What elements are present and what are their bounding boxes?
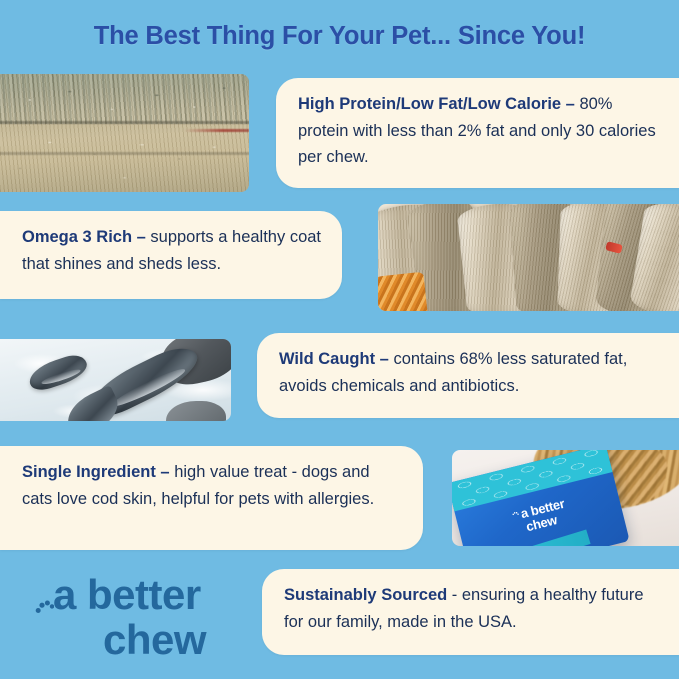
- page-title: The Best Thing For Your Pet... Since You…: [0, 22, 679, 51]
- benefit-card-single-ingredient: Single Ingredient – high value treat - d…: [0, 446, 423, 550]
- pouch-scene: a better chew COD SKIN: [452, 450, 679, 546]
- brand-logo-line-1-row: a better: [34, 574, 249, 615]
- rapids-scene: [0, 339, 231, 421]
- brand-logo: a better chew: [34, 574, 249, 660]
- photo-product-pouch: a better chew COD SKIN: [452, 450, 679, 546]
- benefit-lead-wild-caught: Wild Caught –: [279, 350, 389, 368]
- benefit-lead-sustainably-sourced: Sustainably Sourced: [284, 586, 447, 604]
- photo-wild-salmon-leaping: [0, 339, 231, 421]
- paw-icon: [34, 589, 54, 615]
- product-pouch: a better chew COD SKIN: [452, 450, 630, 546]
- cod-skin-rib: [0, 121, 249, 124]
- benefit-lead-omega-3: Omega 3 Rich –: [22, 228, 146, 246]
- benefit-card-omega-3: Omega 3 Rich – supports a healthy coat t…: [0, 211, 342, 299]
- cod-skin-red-streak: [184, 129, 249, 132]
- benefit-card-sustainably-sourced: Sustainably Sourced - ensuring a healthy…: [262, 569, 679, 655]
- brand-logo-line-1: a better: [53, 574, 201, 615]
- cod-skin-texture: [0, 74, 249, 192]
- paw-icon: [510, 507, 518, 515]
- photo-rolled-cod-skins: [378, 204, 679, 311]
- benefit-card-high-protein: High Protein/Low Fat/Low Calorie – 80% p…: [276, 78, 679, 188]
- cod-skin-rib: [0, 152, 249, 155]
- benefit-card-wild-caught: Wild Caught – contains 68% less saturate…: [257, 333, 679, 418]
- brand-logo-line-2: chew: [34, 619, 249, 660]
- cod-skin-speckles: [0, 74, 249, 192]
- benefit-lead-single-ingredient: Single Ingredient –: [22, 463, 170, 481]
- woven-basket: [378, 271, 429, 311]
- pouch-flavor-label: COD SKIN: [499, 544, 549, 546]
- rolled-skins-scene: [378, 204, 679, 311]
- product-benefits-poster: The Best Thing For Your Pet... Since You…: [0, 0, 679, 679]
- benefit-lead-high-protein: High Protein/Low Fat/Low Calorie –: [298, 95, 575, 113]
- photo-cod-skin-macro: [0, 74, 249, 192]
